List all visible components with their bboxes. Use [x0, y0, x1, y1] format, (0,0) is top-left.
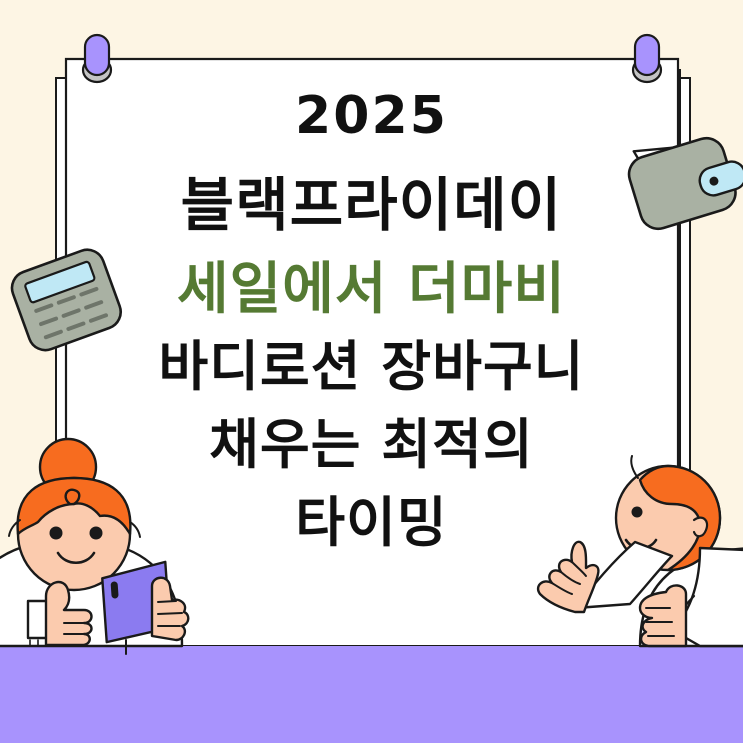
- girl-hand-holding-phone: [152, 578, 188, 640]
- character-girl-with-phone: [0, 439, 188, 654]
- boy-ear: [694, 518, 707, 537]
- character-boy-pointing: [538, 456, 743, 646]
- boy-eye: [632, 507, 643, 518]
- girl-eye-right: [90, 527, 103, 540]
- girl-eye-left: [50, 527, 63, 540]
- poster-canvas: 2025 블랙프라이데이 세일에서 더마비 바디로션 장바구니 채우는 최적의 …: [0, 0, 743, 743]
- boy-fist: [640, 585, 686, 646]
- character-layer: [0, 0, 743, 743]
